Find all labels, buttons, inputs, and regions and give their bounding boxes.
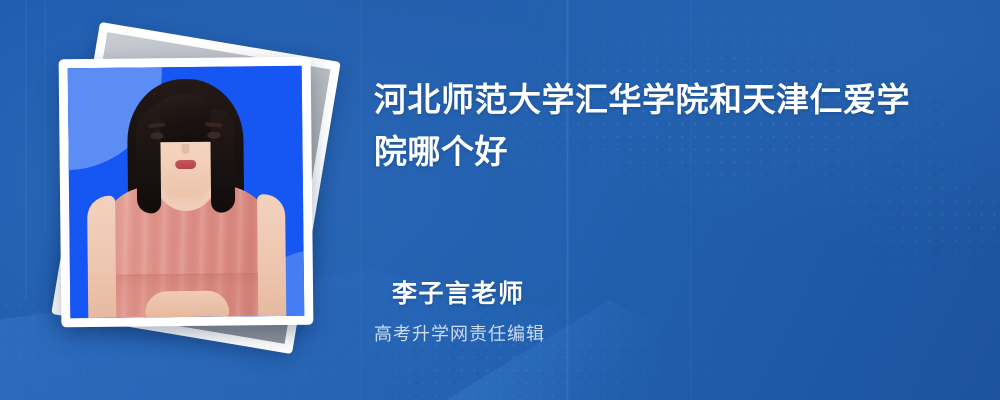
portrait-photo — [68, 66, 305, 318]
portrait-eye-left — [150, 132, 163, 139]
portrait-mouth — [175, 160, 196, 169]
portrait-arm-left — [87, 196, 116, 318]
portrait-arm-right — [257, 194, 286, 316]
photo-card-front — [59, 57, 314, 328]
article-cover-banner: 河北师范大学汇华学院和天津仁爱学院哪个好 李子言老师 高考升学网责任编辑 — [0, 0, 1000, 400]
portrait-nose — [181, 144, 189, 154]
portrait-eye-right — [207, 132, 220, 139]
article-headline: 河北师范大学汇华学院和天津仁爱学院哪个好 — [374, 74, 940, 178]
portrait-figure — [78, 84, 294, 318]
cover-text-block: 河北师范大学汇华学院和天津仁爱学院哪个好 李子言老师 高考升学网责任编辑 — [374, 0, 964, 400]
photo-card-stack — [46, 34, 346, 364]
portrait-hands — [145, 291, 229, 318]
author-role: 高考升学网责任编辑 — [374, 320, 545, 346]
author-name: 李子言老师 — [392, 274, 525, 310]
